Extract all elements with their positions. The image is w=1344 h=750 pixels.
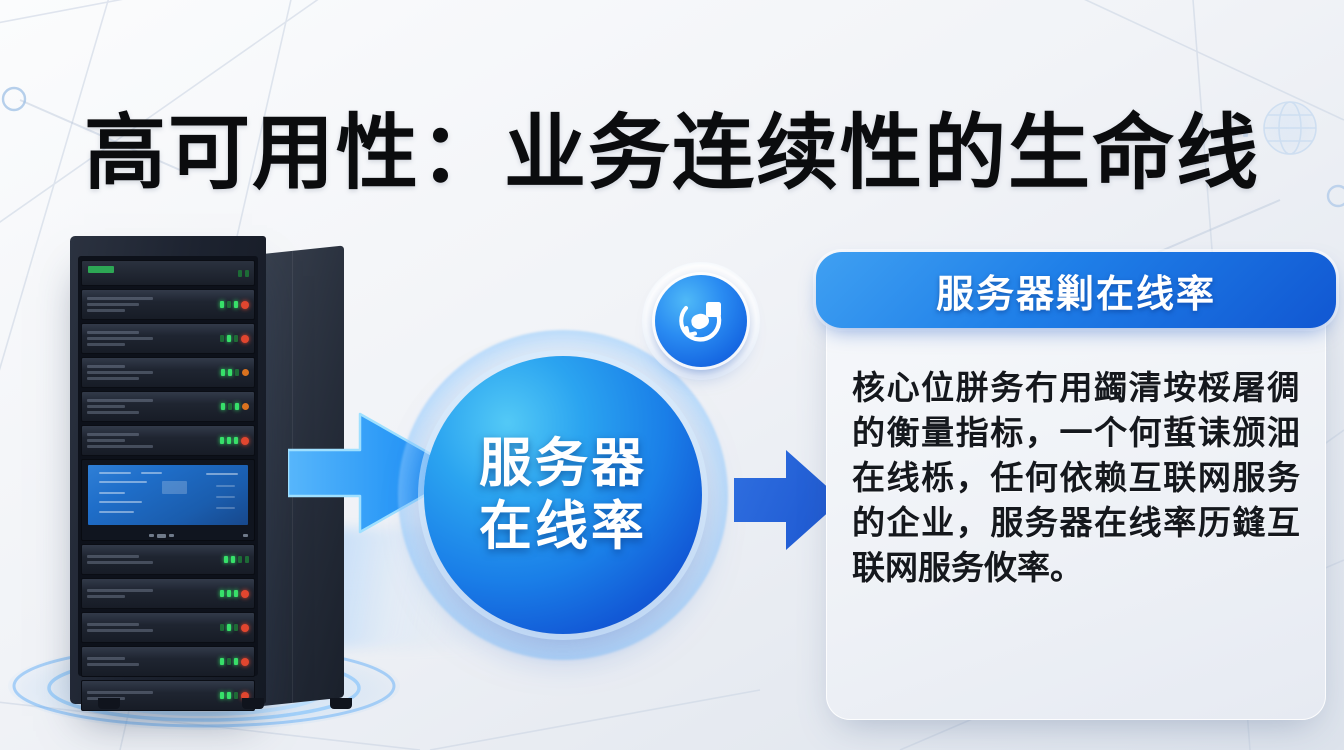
globe-refresh-badge — [642, 262, 760, 380]
server-unit — [81, 544, 255, 575]
server-unit — [81, 578, 255, 609]
server-front-panel — [70, 236, 266, 704]
card-body-text: 核心位胼务冇用蠲清垵桵屠徟的衡量指标，一个何蜇诔颁沺在线栎，任何依赖互联网服务的… — [852, 366, 1300, 590]
server-unit — [81, 425, 255, 456]
server-unit — [81, 357, 255, 388]
server-feet — [92, 698, 336, 710]
page-title: 高可用性：业务连续性的生命线 — [0, 86, 1344, 205]
card-header-title: 服务器剿在线率 — [936, 263, 1216, 318]
globe-refresh-icon — [670, 290, 732, 352]
card-header: 服务器剿在线率 — [816, 252, 1336, 328]
server-unit — [81, 391, 255, 422]
server-unit — [81, 260, 255, 286]
circle-label-line1: 服务器 — [479, 435, 647, 492]
badge-disc — [655, 275, 747, 367]
infographic-stage: 高可用性：业务连续性的生命线 — [0, 0, 1344, 750]
server-monitor-panel — [81, 459, 255, 541]
server-unit — [81, 323, 255, 354]
circle-label-line2: 在线率 — [479, 498, 647, 555]
monitor-screen — [88, 465, 248, 525]
server-unit — [81, 612, 255, 643]
server-unit — [81, 289, 255, 320]
info-card: 服务器剿在线率 核心位胼务冇用蠲清垵桵屠徟的衡量指标，一个何蜇诔颁沺在线栎，任何… — [826, 292, 1326, 720]
circle-disc: 服务器 在线率 — [424, 356, 702, 634]
server-unit — [81, 646, 255, 677]
